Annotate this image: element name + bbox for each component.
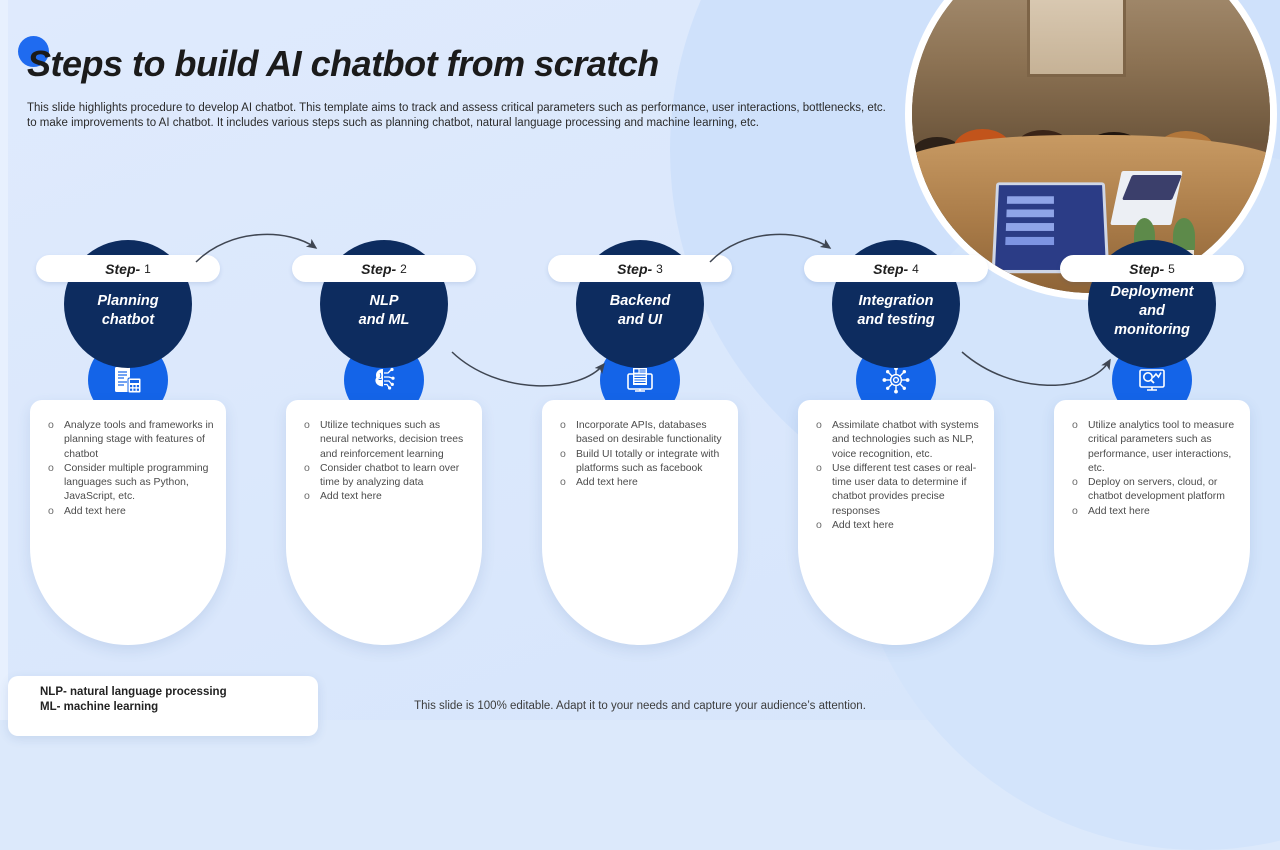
footer-note: This slide is 100% editable. Adapt it to… <box>0 700 1280 712</box>
step-title: Integration and testing <box>849 292 942 330</box>
step-badge-label: Step- <box>105 261 140 277</box>
network-hub-icon <box>879 363 913 397</box>
list-item: Add text here <box>1068 505 1238 519</box>
list-item: Build UI totally or integrate with platf… <box>556 448 726 477</box>
step-bullet-list: Utilize techniques such as neural networ… <box>286 400 482 505</box>
list-item: Add text here <box>300 490 470 504</box>
invoice-calculator-icon <box>111 363 145 397</box>
page-title: Steps to build AI chatbot from scratch <box>27 43 659 85</box>
step-badge[interactable]: Step- 3 <box>548 255 732 282</box>
list-item: Analyze tools and frameworks in planning… <box>44 419 214 462</box>
brain-circuit-icon <box>367 363 401 397</box>
step-badge-number: 4 <box>912 262 919 276</box>
list-item: Add text here <box>556 476 726 490</box>
step-detail-card: Analyze tools and frameworks in planning… <box>30 400 226 645</box>
step-badge[interactable]: Step- 5 <box>1060 255 1244 282</box>
step-badge-label: Step- <box>361 261 396 277</box>
list-item: Incorporate APIs, databases based on des… <box>556 419 726 448</box>
step-title: Deployment and monitoring <box>1088 283 1216 340</box>
step-badge-label: Step- <box>873 261 908 277</box>
step-detail-card: Utilize techniques such as neural networ… <box>286 400 482 645</box>
list-item: Assimilate chatbot with systems and tech… <box>812 419 982 462</box>
step-detail-card: Assimilate chatbot with systems and tech… <box>798 400 994 645</box>
step-badge-label: Step- <box>617 261 652 277</box>
step-bullet-list: Analyze tools and frameworks in planning… <box>30 400 226 519</box>
step-bullet-list: Assimilate chatbot with systems and tech… <box>798 400 994 533</box>
step-title: NLP and ML <box>351 292 418 330</box>
step-badge-number: 5 <box>1168 262 1175 276</box>
step-badge-number: 3 <box>656 262 663 276</box>
page-subtitle: This slide highlights procedure to devel… <box>27 101 887 131</box>
list-item: Consider chatbot to learn over time by a… <box>300 462 470 491</box>
step-detail-card: Incorporate APIs, databases based on des… <box>542 400 738 645</box>
monitor-document-icon <box>623 363 657 397</box>
step-badge[interactable]: Step- 4 <box>804 255 988 282</box>
list-item: Consider multiple programming languages … <box>44 462 214 505</box>
step-bullet-list: Incorporate APIs, databases based on des… <box>542 400 738 490</box>
legend-line-nlp: NLP- natural language processing <box>40 685 318 700</box>
step-detail-card: Utilize analytics tool to measure critic… <box>1054 400 1250 645</box>
step-badge[interactable]: Step- 1 <box>36 255 220 282</box>
step-badge-label: Step- <box>1129 261 1164 277</box>
list-item: Use different test cases or real-time us… <box>812 462 982 519</box>
step-title: Backend and UI <box>602 292 678 330</box>
step-title: Planning chatbot <box>89 292 166 330</box>
list-item: Add text here <box>812 519 982 533</box>
step-badge[interactable]: Step- 2 <box>292 255 476 282</box>
step-badge-number: 2 <box>400 262 407 276</box>
step-bullet-list: Utilize analytics tool to measure critic… <box>1054 400 1250 519</box>
list-item: Utilize analytics tool to measure critic… <box>1068 419 1238 476</box>
list-item: Add text here <box>44 505 214 519</box>
step-badge-number: 1 <box>144 262 151 276</box>
steps-row: Analyze tools and frameworks in planning… <box>0 240 1280 640</box>
list-item: Utilize techniques such as neural networ… <box>300 419 470 462</box>
list-item: Deploy on servers, cloud, or chatbot dev… <box>1068 476 1238 505</box>
monitor-analytics-icon <box>1135 363 1169 397</box>
